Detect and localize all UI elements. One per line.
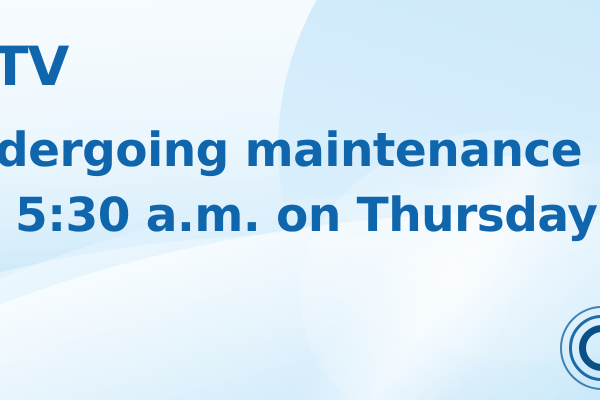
notice-text-block: Y-TV ndergoing maintenance d 5:30 a.m. o…	[0, 0, 600, 400]
maintenance-time-line: d 5:30 a.m. on Thursday	[0, 192, 597, 239]
station-callsign-line: Y-TV	[0, 40, 68, 94]
maintenance-status-line: ndergoing maintenance	[0, 127, 582, 174]
maintenance-notice-banner: Y-TV ndergoing maintenance d 5:30 a.m. o…	[0, 0, 600, 400]
